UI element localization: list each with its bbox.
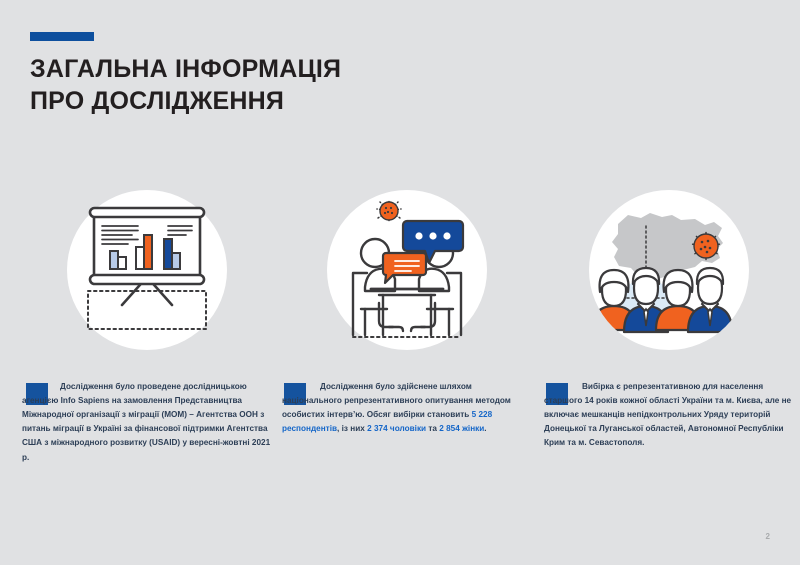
stat-men: 2 374 чоловіки [367, 424, 426, 433]
column-coverage: Вибірка є репрезентативною для населення… [544, 185, 794, 465]
person-4 [688, 268, 732, 332]
column-sample: Дослідження було здійснене шляхом націон… [282, 185, 532, 465]
icon-wrap-3 [544, 185, 794, 355]
title-accent-bar [30, 32, 94, 41]
text-rest-2d: . [484, 424, 486, 433]
slide-root: ЗАГАЛЬНА ІНФОРМАЦІЯ ПРО ДОСЛІДЖЕННЯ [0, 0, 800, 565]
body-text-1: Дослідження було проведене дослідницькою… [22, 380, 272, 465]
column-methodology: Дослідження було проведене дослідницькою… [22, 185, 272, 465]
body-text-2: Дослідження було здійснене шляхом націон… [282, 380, 532, 436]
text-rest-2b: , із них [337, 424, 367, 433]
virus-glyph [377, 199, 401, 223]
page-title: ЗАГАЛЬНА ІНФОРМАЦІЯ ПРО ДОСЛІДЖЕННЯ [30, 53, 450, 117]
text-rest-2c: та [426, 424, 439, 433]
stat-women: 2 854 жінки [439, 424, 484, 433]
presentation-chart-icon [72, 195, 222, 345]
text-rest-1: на замовлення Представництва Міжнародної… [22, 396, 270, 461]
icon-wrap-1 [22, 185, 272, 355]
icon-wrap-2 [282, 185, 532, 355]
icon-circle-1 [67, 190, 227, 350]
map-population-icon [584, 190, 754, 350]
interview-conversation-icon [327, 191, 487, 349]
icon-circle-2 [327, 190, 487, 350]
text-block-1: Дослідження було проведене дослідницькою… [22, 355, 272, 465]
icon-circle-3 [589, 190, 749, 350]
body-text-3: Вибірка є репрезентативною для населення… [544, 380, 794, 451]
text-block-2: Дослідження було здійснене шляхом націон… [282, 355, 532, 436]
text-block-3: Вибірка є репрезентативною для населення… [544, 355, 794, 451]
page-number: 2 [766, 532, 770, 541]
content-columns: Дослідження було проведене дослідницькою… [0, 185, 800, 465]
